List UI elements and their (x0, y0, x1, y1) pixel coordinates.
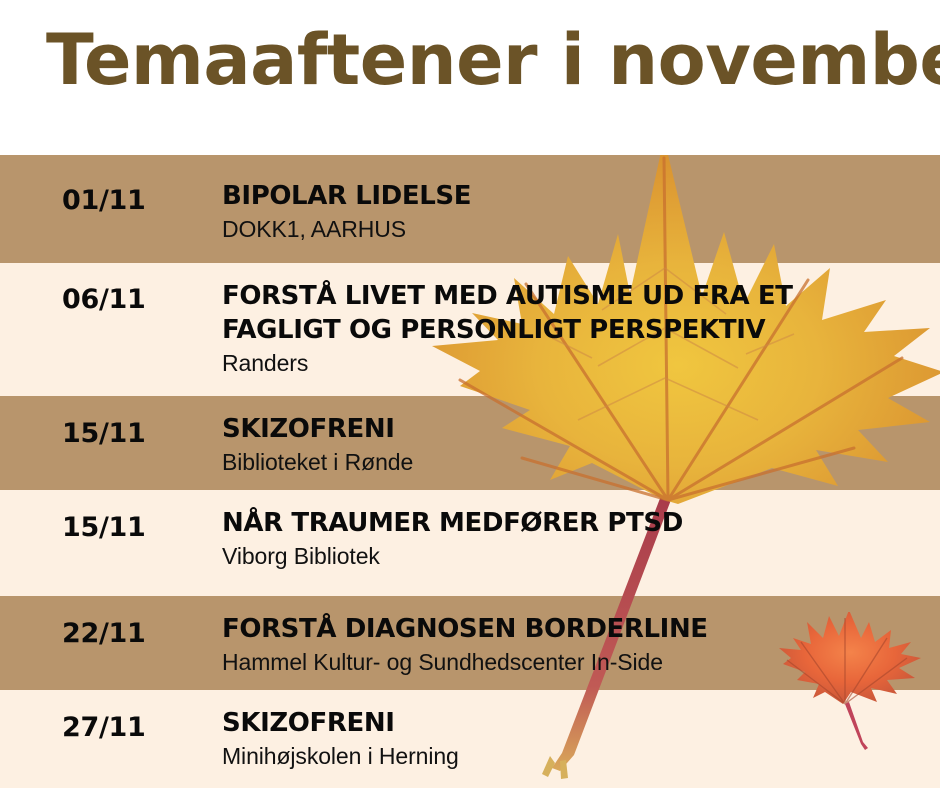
event-date: 01/11 (62, 185, 146, 216)
event-body: FORSTÅ DIAGNOSEN BORDERLINE Hammel Kultu… (222, 612, 930, 677)
event-date: 15/11 (62, 512, 146, 543)
event-title: FORSTÅ LIVET MED AUTISME UD FRA ET FAGLI… (222, 279, 930, 347)
event-venue: Viborg Bibliotek (222, 541, 930, 571)
event-venue: Biblioteket i Rønde (222, 447, 930, 477)
event-row-4[interactable]: 15/11 NÅR TRAUMER MEDFØRER PTSD Viborg B… (0, 490, 940, 596)
event-title-line: SKIZOFRENI (222, 412, 930, 446)
event-title-line: NÅR TRAUMER MEDFØRER PTSD (222, 506, 930, 540)
event-title-line: FORSTÅ LIVET MED AUTISME UD FRA ET (222, 279, 930, 313)
poster-canvas: Temaaftener i november 01/11 BIPOLAR LID… (0, 0, 940, 788)
event-row-2[interactable]: 06/11 FORSTÅ LIVET MED AUTISME UD FRA ET… (0, 263, 940, 396)
event-venue: Minihøjskolen i Herning (222, 741, 930, 771)
event-title-line: FORSTÅ DIAGNOSEN BORDERLINE (222, 612, 930, 646)
event-body: SKIZOFRENI Minihøjskolen i Herning (222, 706, 930, 771)
event-title-line: FAGLIGT OG PERSONLIGT PERSPEKTIV (222, 313, 930, 347)
event-title: FORSTÅ DIAGNOSEN BORDERLINE (222, 612, 930, 646)
event-row-1[interactable]: 01/11 BIPOLAR LIDELSE DOKK1, AARHUS (0, 155, 940, 263)
event-date: 27/11 (62, 712, 146, 743)
event-row-6[interactable]: 27/11 SKIZOFRENI Minihøjskolen i Herning (0, 690, 940, 788)
event-title: NÅR TRAUMER MEDFØRER PTSD (222, 506, 930, 540)
event-body: BIPOLAR LIDELSE DOKK1, AARHUS (222, 179, 930, 244)
event-title-line: BIPOLAR LIDELSE (222, 179, 930, 213)
event-title: BIPOLAR LIDELSE (222, 179, 930, 213)
event-body: SKIZOFRENI Biblioteket i Rønde (222, 412, 930, 477)
event-venue: Hammel Kultur- og Sundhedscenter In-Side (222, 647, 930, 677)
event-row-3[interactable]: 15/11 SKIZOFRENI Biblioteket i Rønde (0, 396, 940, 490)
event-row-5[interactable]: 22/11 FORSTÅ DIAGNOSEN BORDERLINE Hammel… (0, 596, 940, 690)
event-venue: Randers (222, 348, 930, 378)
header-bar: Temaaftener i november (0, 0, 940, 155)
event-date: 06/11 (62, 284, 146, 315)
event-title-line: SKIZOFRENI (222, 706, 930, 740)
event-date: 15/11 (62, 418, 146, 449)
event-venue: DOKK1, AARHUS (222, 214, 930, 244)
event-title: SKIZOFRENI (222, 706, 930, 740)
event-title: SKIZOFRENI (222, 412, 930, 446)
event-body: NÅR TRAUMER MEDFØRER PTSD Viborg Bibliot… (222, 506, 930, 571)
event-date: 22/11 (62, 618, 146, 649)
event-body: FORSTÅ LIVET MED AUTISME UD FRA ET FAGLI… (222, 279, 930, 378)
page-title: Temaaftener i november (46, 24, 940, 98)
